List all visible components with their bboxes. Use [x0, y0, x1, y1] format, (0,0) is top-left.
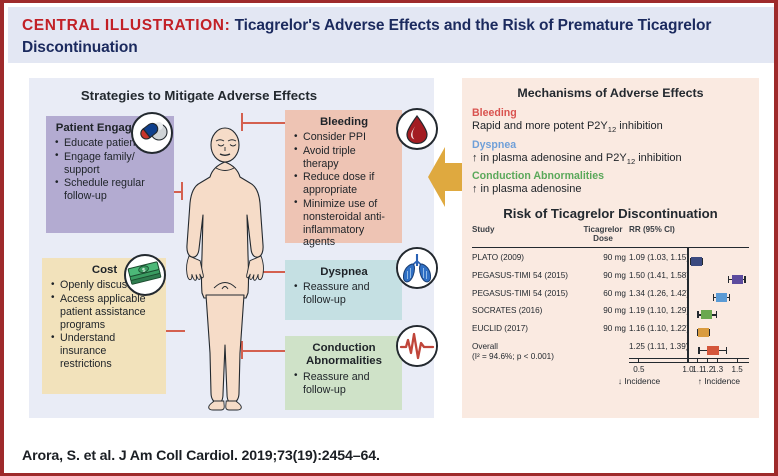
mechanism-text-pre-conduction: ↑ in plasma adenosine	[472, 183, 581, 195]
ci-cap-upper	[729, 294, 730, 301]
study-name: PEGASUS-TIMI 54 (2015)	[472, 289, 568, 298]
list-item: Minimize use of nonsteroidal anti-inflam…	[294, 198, 394, 250]
study-name: Overall	[472, 342, 498, 351]
effect-estimate-marker	[732, 275, 743, 284]
mechanism-text-conduction: ↑ in plasma adenosine	[472, 183, 749, 197]
study-dose: 90 mg	[580, 324, 626, 333]
human-body-diagram	[184, 123, 304, 413]
column-header-rr: RR (95% CI)	[629, 225, 675, 234]
mechanism-text-pre-dyspnea: ↑ in plasma adenosine and P2Y	[472, 152, 627, 164]
figure-title-bar: CENTRAL ILLUSTRATION: Ticagrelor's Adver…	[8, 7, 774, 63]
column-header-dose-line1: Ticagrelor	[584, 225, 623, 234]
gold-left-arrow-icon	[428, 139, 462, 215]
forest-marker	[629, 271, 749, 289]
list-item: Access applicable patient assistance pro…	[51, 293, 158, 332]
money-cash-icon: $	[124, 254, 166, 296]
column-header-dose-line2: Dose	[593, 234, 613, 243]
mechanisms-panel-title: Mechanisms of Adverse Effects	[472, 86, 749, 100]
forest-plot-title: Risk of Ticagrelor Discontinuation	[472, 206, 749, 221]
ci-cap-upper	[716, 311, 717, 318]
lungs-icon	[396, 247, 438, 289]
axis-tick-label: 1.5	[726, 365, 748, 374]
x-axis-line	[629, 358, 749, 359]
ci-cap-upper	[744, 276, 745, 283]
study-heterogeneity: (I² = 94.6%; p < 0.001)	[472, 352, 554, 361]
mechanism-heading-dyspnea: Dyspnea	[472, 139, 749, 151]
study-dose: 90 mg	[580, 306, 626, 315]
mechanism-text-bleeding: Rapid and more potent P2Y12 inhibition	[472, 120, 749, 135]
strategies-panel-title: Strategies to Mitigate Adverse Effects	[29, 88, 369, 103]
citation-text: Arora, S. et al. J Am Coll Cardiol. 2019…	[22, 448, 380, 464]
strategy-title-bleeding: Bleeding	[294, 116, 394, 129]
list-item: Engage family/ support	[55, 151, 166, 177]
mechanism-heading-conduction: Conduction Abnormalities	[472, 170, 749, 182]
list-item: Schedule regular follow-up	[55, 177, 166, 203]
effect-estimate-marker	[698, 328, 709, 337]
ci-cap-lower	[713, 294, 714, 301]
forest-marker	[629, 342, 749, 360]
study-dose: 60 mg	[580, 289, 626, 298]
central-illustration-label: CENTRAL ILLUSTRATION:	[22, 17, 230, 34]
ci-cap-upper	[726, 347, 727, 354]
forest-marker	[629, 306, 749, 324]
ecg-heartbeat-icon	[396, 325, 438, 367]
list-item: Consider PPI	[294, 131, 394, 144]
effect-estimate-marker	[707, 346, 719, 355]
overall-rule	[629, 362, 749, 363]
page-title: CENTRAL ILLUSTRATION: Ticagrelor's Adver…	[22, 15, 760, 59]
study-name: PEGASUS-TIMI 54 (2015)	[472, 271, 568, 280]
ci-cap-lower	[728, 276, 729, 283]
axis-label-increased-incidence: ↑ Incidence	[698, 376, 740, 386]
list-item: Reassure and follow-up	[294, 371, 394, 397]
forest-plot: Study TicagrelorDose RR (95% CI) PLATO (…	[472, 225, 749, 390]
effect-estimate-marker	[701, 310, 712, 319]
study-name: PLATO (2009)	[472, 253, 524, 262]
axis-tick-label: 0.5	[628, 365, 650, 374]
list-item: Reassure and follow-up	[294, 281, 394, 307]
forest-marker	[629, 289, 749, 307]
strategy-title-dyspnea: Dyspnea	[294, 266, 394, 279]
axis-label-decreased-incidence: ↓ Incidence	[618, 376, 660, 386]
list-item: Reduce dose if appropriate	[294, 171, 394, 197]
strategy-list-bleeding: Consider PPI Avoid triple therapy Reduce…	[294, 131, 394, 249]
forest-plot-area	[629, 247, 749, 372]
mechanism-subscript-bleeding: 12	[608, 125, 616, 134]
study-name: EUCLID (2017)	[472, 324, 528, 333]
study-name: SOCRATES (2016)	[472, 306, 542, 315]
central-illustration-figure: CENTRAL ILLUSTRATION: Ticagrelor's Adver…	[0, 0, 778, 476]
effect-estimate-marker	[716, 293, 727, 302]
list-item: Understand insurance restrictions	[51, 332, 158, 371]
mechanism-heading-bleeding: Bleeding	[472, 107, 749, 119]
column-header-study: Study	[472, 225, 494, 234]
mechanism-subscript-dyspnea: 12	[627, 157, 635, 166]
pill-capsule-icon	[131, 112, 173, 154]
study-dose: 90 mg	[580, 253, 626, 262]
mechanisms-panel: Mechanisms of Adverse Effects Bleeding R…	[462, 78, 759, 418]
mechanism-text-post-bleeding: inhibition	[616, 120, 662, 132]
study-dose: 90 mg	[580, 271, 626, 280]
column-header-dose: TicagrelorDose	[580, 225, 626, 243]
forest-marker	[629, 324, 749, 342]
mechanism-text-post-dyspnea: inhibition	[635, 152, 681, 164]
effect-estimate-marker	[691, 257, 702, 266]
strategy-list-dyspnea: Reassure and follow-up	[294, 281, 394, 307]
list-item: Avoid triple therapy	[294, 145, 394, 171]
strategy-list-conduction-abnormalities: Reassure and follow-up	[294, 371, 394, 397]
blood-drop-icon	[396, 108, 438, 150]
mechanism-text-pre-bleeding: Rapid and more potent P2Y	[472, 120, 608, 132]
ci-cap-lower	[698, 347, 699, 354]
strategy-title-conduction-abnormalities: Conduction Abnormalities	[294, 342, 394, 369]
forest-marker	[629, 253, 749, 271]
ci-cap-lower	[697, 311, 698, 318]
mechanism-text-dyspnea: ↑ in plasma adenosine and P2Y12 inhibiti…	[472, 152, 749, 167]
